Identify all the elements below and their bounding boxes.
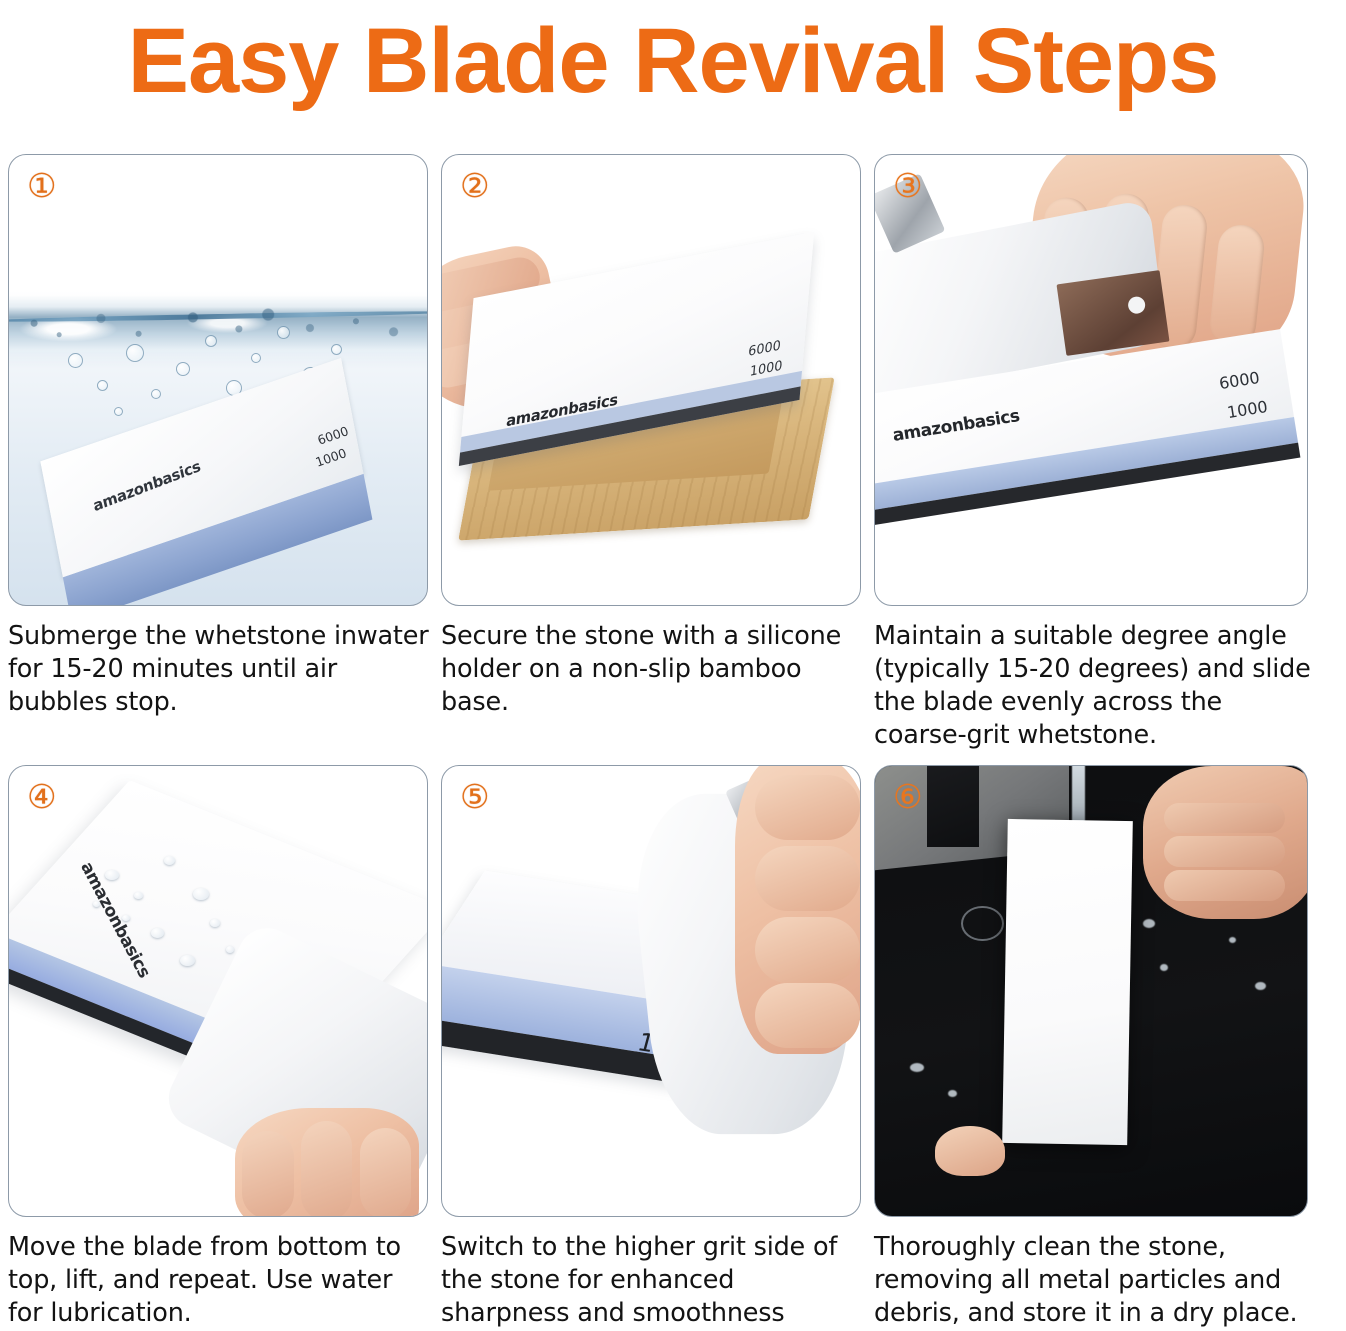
water-splash bbox=[948, 1090, 957, 1097]
step-caption-2: Secure the stone with a silicone holder … bbox=[441, 620, 865, 719]
water-droplet bbox=[164, 856, 175, 865]
hand bbox=[735, 765, 861, 1054]
bubble-icon bbox=[126, 344, 144, 362]
sink-drain bbox=[961, 906, 1004, 942]
step-image-2: ② amazonbasics 6000 1000 bbox=[441, 154, 861, 606]
water-droplet bbox=[193, 888, 209, 900]
whetstone: amazonbasics 6000 1000 bbox=[47, 394, 365, 583]
step-caption-5: Switch to the higher grit side of the st… bbox=[441, 1231, 865, 1330]
water-droplet bbox=[122, 915, 130, 921]
water-splash bbox=[1143, 919, 1155, 928]
bubble-icon bbox=[97, 380, 108, 391]
faucet bbox=[927, 765, 979, 847]
step-badge-4: ④ bbox=[27, 780, 57, 813]
water-droplet bbox=[105, 870, 119, 880]
water-foam bbox=[9, 304, 427, 352]
step-image-4: ④ amazonbasics bbox=[8, 765, 428, 1217]
step-caption-6: Thoroughly clean the stone, removing all… bbox=[874, 1231, 1320, 1330]
step-card-4: ④ amazonbasics Move the blade from botto… bbox=[8, 765, 442, 1330]
thumb bbox=[935, 1126, 1004, 1176]
step-image-1: ① amazonbasics 6000 bbox=[8, 154, 428, 606]
step-caption-4: Move the blade from bottom to top, lift,… bbox=[8, 1231, 432, 1330]
water-droplet bbox=[93, 901, 100, 907]
water-splash bbox=[1255, 982, 1266, 990]
bubble-icon bbox=[68, 353, 83, 368]
step-card-3: amazonbasics 6000 1000 ③ Maintain a suit… bbox=[874, 154, 1308, 753]
steps-grid: ① amazonbasics 6000 bbox=[0, 122, 1346, 1331]
step-badge-3: ③ bbox=[893, 169, 923, 202]
step-badge-2: ② bbox=[460, 169, 490, 202]
step-caption-3: Maintain a suitable degree angle (typica… bbox=[874, 620, 1320, 753]
whetstone bbox=[1002, 819, 1133, 1145]
knife-tang bbox=[1056, 270, 1169, 356]
bubble-icon bbox=[176, 362, 190, 376]
step-image-5: ⑤ 6000 1000 bbox=[441, 765, 861, 1217]
bubble-icon bbox=[277, 326, 290, 339]
step-badge-1: ① bbox=[27, 169, 57, 202]
water-splash bbox=[910, 1063, 924, 1072]
step-card-5: ⑤ 6000 1000 Switch to the higher grit si… bbox=[441, 765, 875, 1330]
step-card-6: ⑥ Thoroughly clean the stone, removing a… bbox=[874, 765, 1308, 1330]
step-caption-1: Submerge the whetstone inwater for 15-20… bbox=[8, 620, 432, 719]
water-splash bbox=[1229, 937, 1236, 943]
step-card-2: ② amazonbasics 6000 1000 Secure the ston… bbox=[441, 154, 875, 719]
step-image-6: ⑥ bbox=[874, 765, 1308, 1217]
hand bbox=[235, 1108, 419, 1217]
water-droplet bbox=[210, 919, 220, 927]
water-splash bbox=[1160, 964, 1168, 971]
step-card-1: ① amazonbasics 6000 bbox=[8, 154, 442, 719]
hand bbox=[1143, 766, 1308, 919]
step-badge-5: ⑤ bbox=[460, 780, 490, 813]
step-image-3: amazonbasics 6000 1000 ③ bbox=[874, 154, 1308, 606]
page-title: Easy Blade Revival Steps bbox=[0, 0, 1346, 122]
step-badge-6: ⑥ bbox=[893, 780, 923, 813]
